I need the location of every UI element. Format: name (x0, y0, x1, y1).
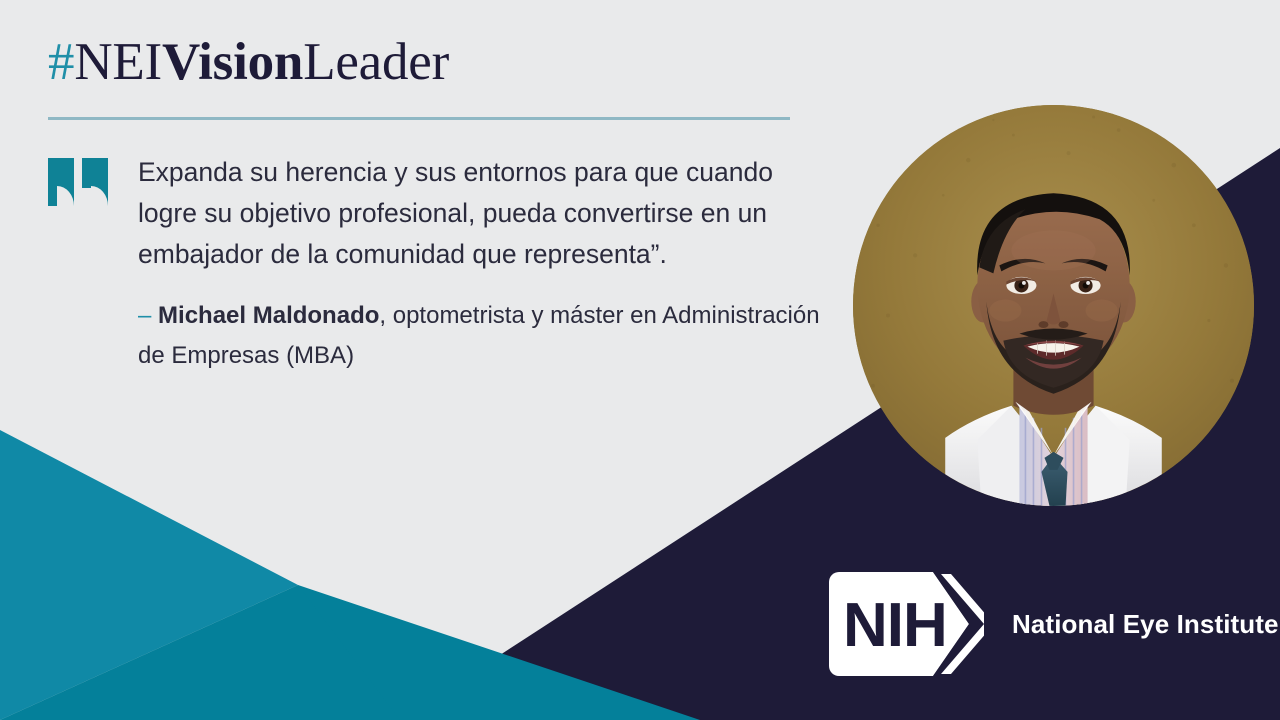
headline-vision: Vision (162, 33, 303, 91)
headline-hash: # (48, 33, 74, 91)
quote-card: #NEIVisionLeader Expanda su herencia y s… (0, 0, 1280, 720)
headline-leader: Leader (303, 33, 449, 91)
attribution-name: Michael Maldonado (158, 302, 379, 329)
attribution: – Michael Maldonado, optometrista y mást… (138, 296, 838, 376)
nih-nei-logo: NIH National Eye Institute (829, 572, 1279, 676)
double-quote-svg (48, 158, 112, 206)
nih-letters: NIH (843, 591, 947, 660)
avatar-image (853, 105, 1254, 506)
quote-text: Expanda su herencia y sus entornos para … (138, 152, 838, 275)
title-divider (48, 117, 790, 120)
nei-wordmark: National Eye Institute (1012, 609, 1279, 640)
avatar (853, 105, 1254, 506)
double-quote-icon (48, 158, 112, 206)
page-title: #NEIVisionLeader (48, 35, 449, 91)
attribution-dash: – (138, 302, 151, 329)
nih-logo-svg: NIH (829, 572, 984, 676)
nih-logo-mark: NIH (829, 572, 984, 676)
headline-nei: NEI (74, 33, 162, 91)
